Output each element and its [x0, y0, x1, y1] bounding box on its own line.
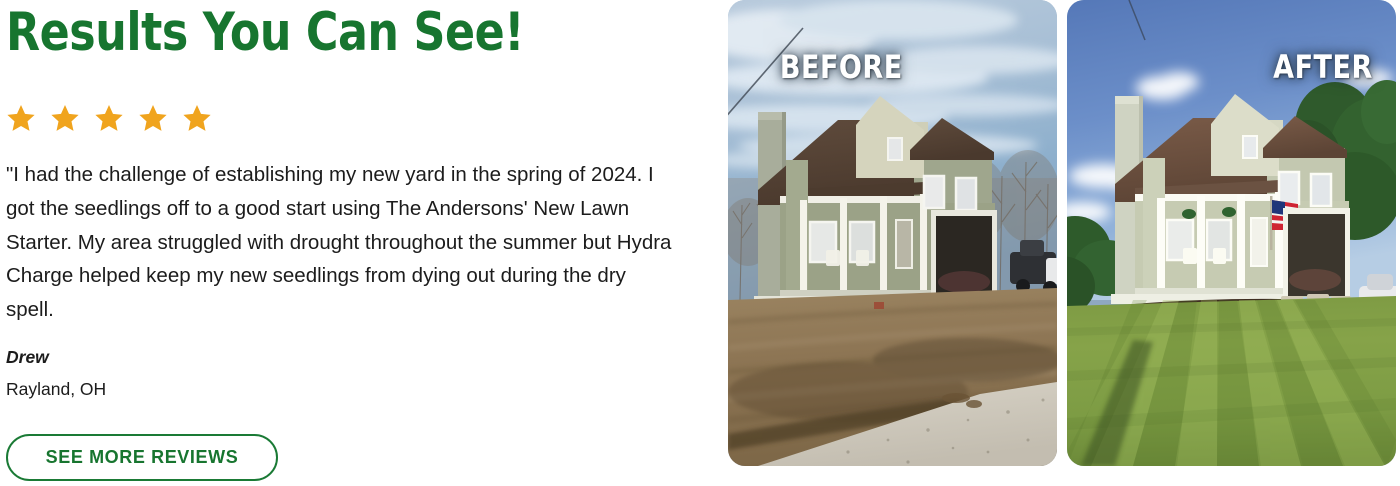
after-photo[interactable]: AFTER	[1067, 0, 1396, 466]
star-rating	[6, 103, 212, 133]
author-location: Rayland, OH	[6, 377, 106, 401]
star-icon	[182, 103, 212, 133]
before-after-gallery: BEFORE	[728, 0, 1396, 466]
see-more-reviews-button[interactable]: SEE MORE REVIEWS	[6, 434, 278, 481]
star-icon	[94, 103, 124, 133]
author-name: Drew	[6, 345, 49, 369]
testimonial-quote: "I had the challenge of establishing my …	[6, 158, 674, 327]
before-photo[interactable]: BEFORE	[728, 0, 1057, 466]
testimonial-section: Results You Can See! "I had the challeng…	[0, 0, 1400, 486]
star-icon	[6, 103, 36, 133]
star-icon	[138, 103, 168, 133]
before-label: BEFORE	[780, 48, 903, 86]
testimonial-content: Results You Can See! "I had the challeng…	[0, 0, 700, 486]
after-label: AFTER	[1273, 48, 1373, 86]
page-title: Results You Can See!	[6, 2, 524, 64]
star-icon	[50, 103, 80, 133]
